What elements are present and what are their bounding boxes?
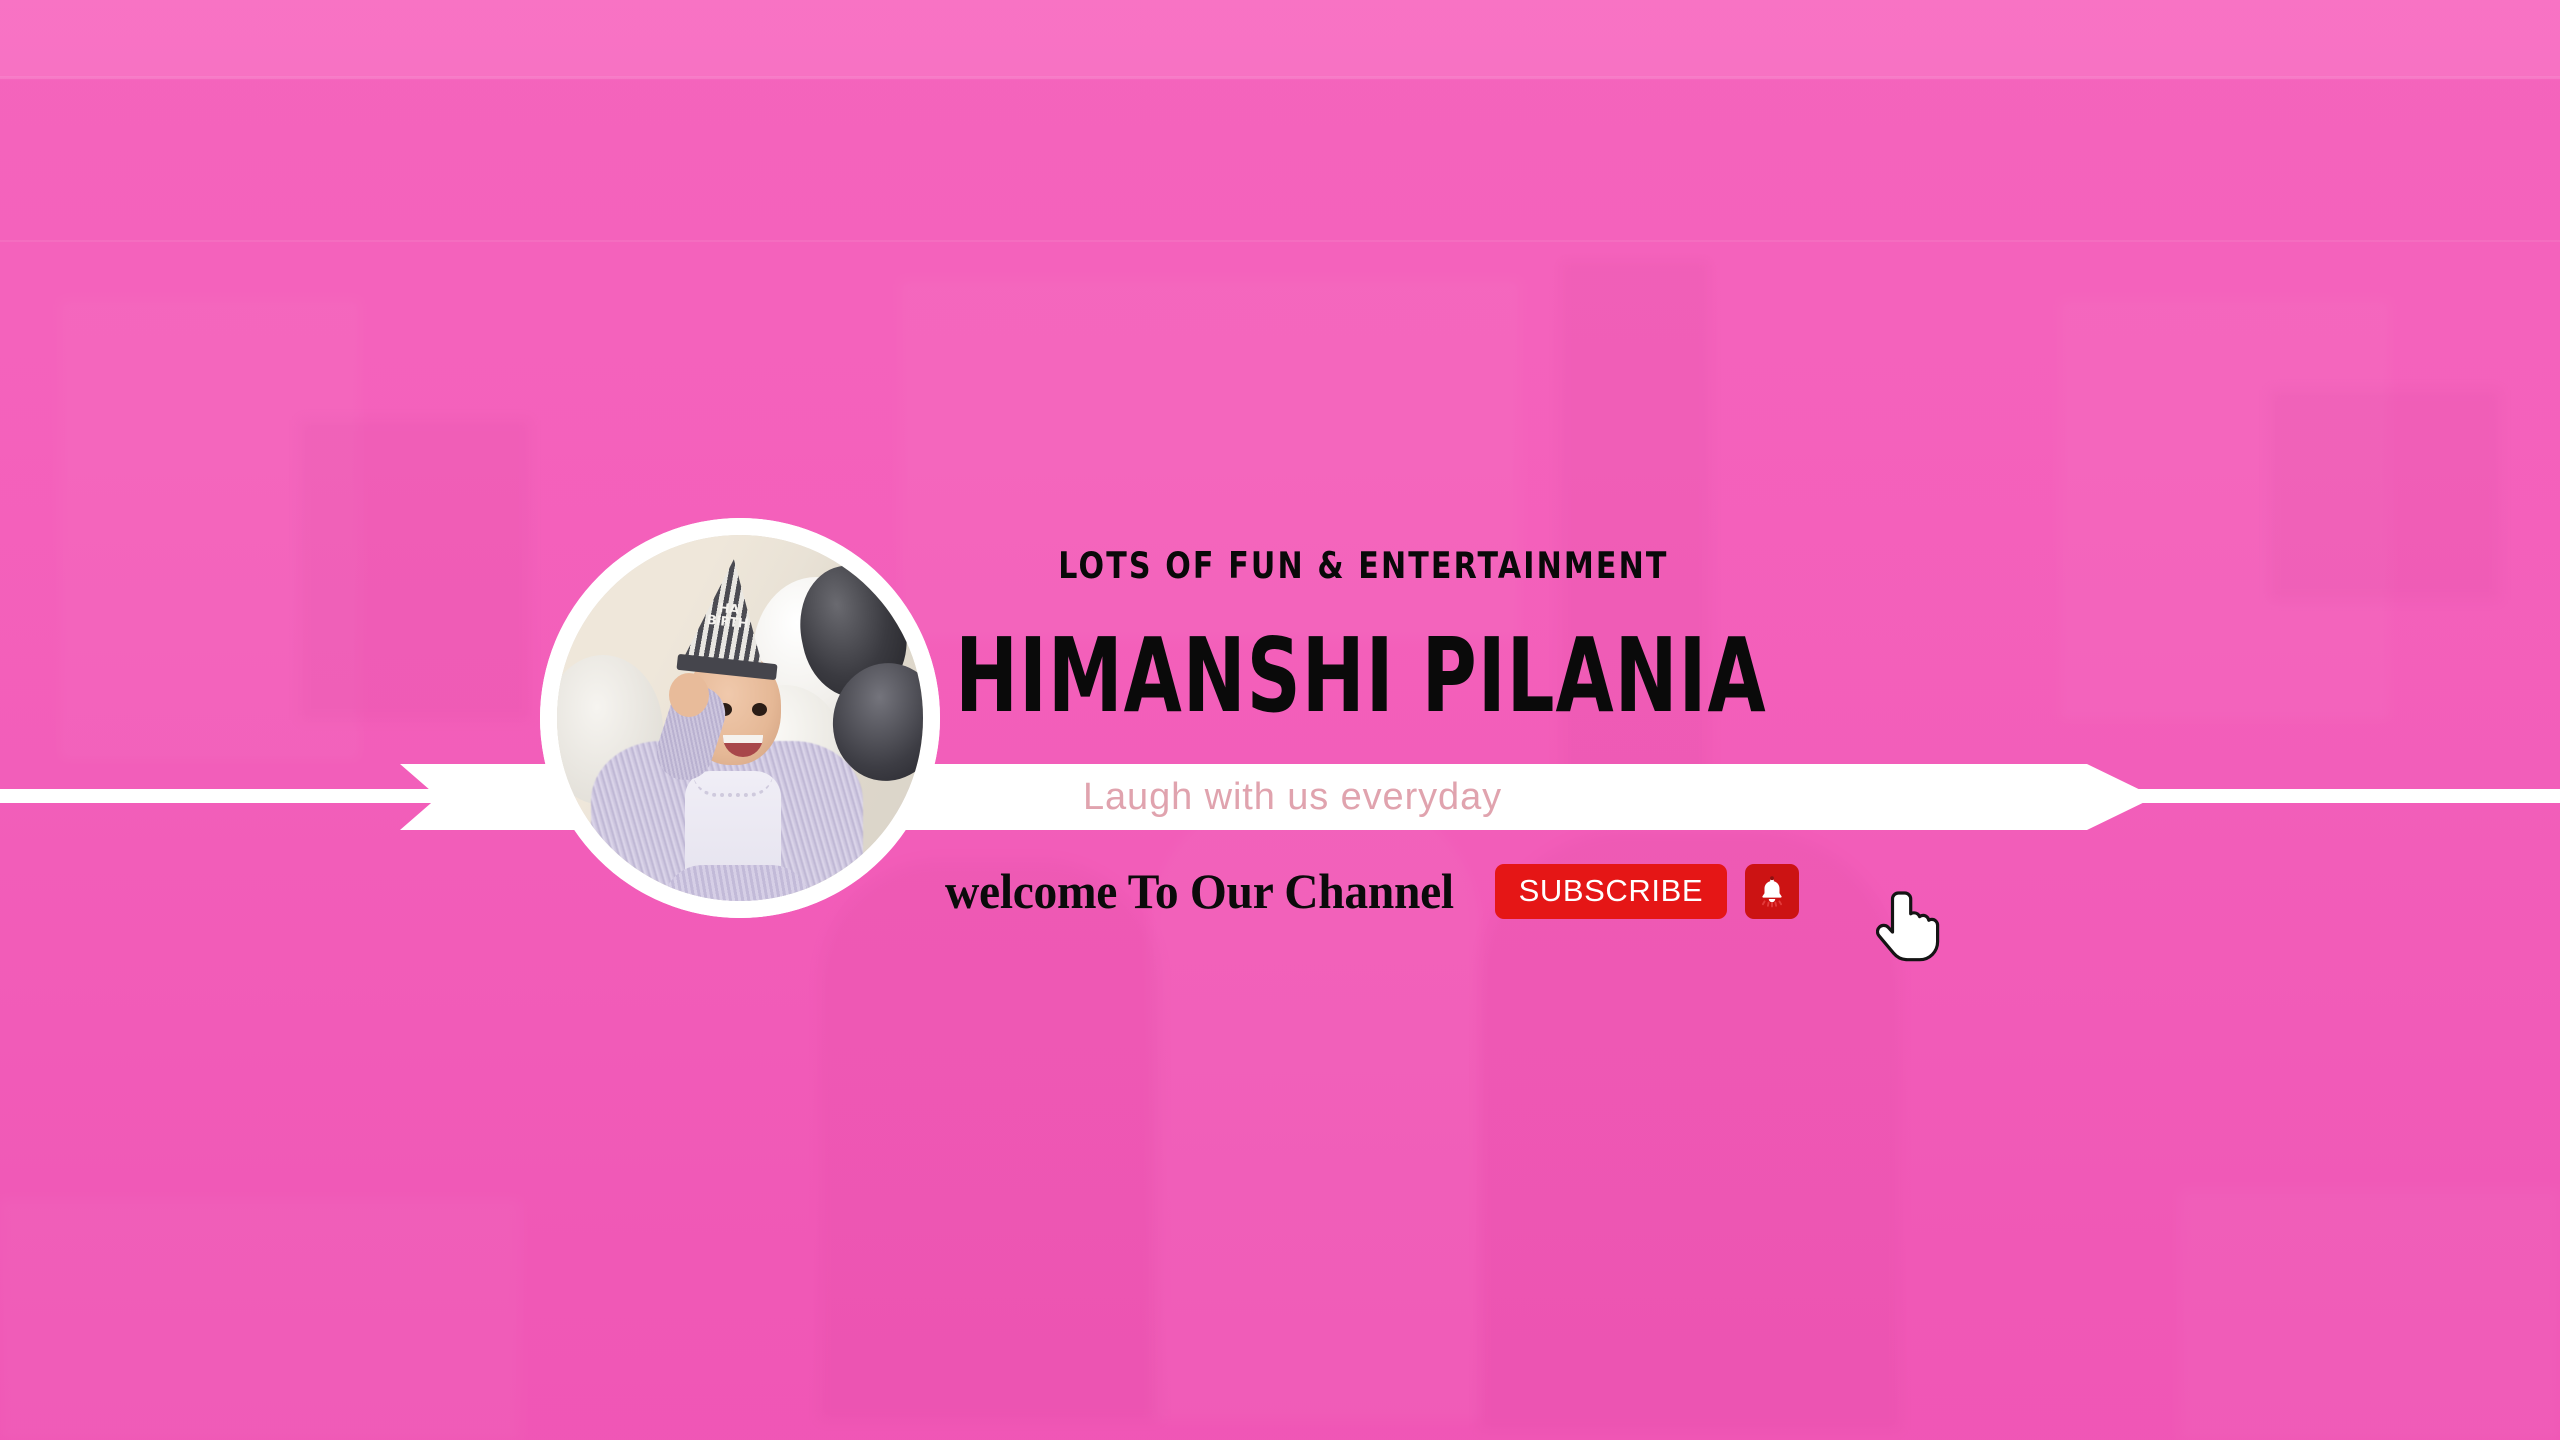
ghost-roof-seam <box>0 76 2560 79</box>
subscribe-button[interactable]: SUBSCRIBE <box>1495 864 1728 919</box>
avatar-necklace <box>693 773 773 797</box>
avatar-party-hat-text: HA BIRTH <box>696 600 760 632</box>
ghost-roof-seam-lower <box>0 240 2560 242</box>
avatar-teeth <box>723 735 763 743</box>
avatar-hand <box>669 673 709 717</box>
notification-bell-button[interactable] <box>1745 864 1799 919</box>
avatar[interactable]: HA BIRTH <box>540 518 940 918</box>
channel-name-title: HIMANSHI PILANIA <box>77 625 2483 727</box>
welcome-text: welcome To Our Channel <box>945 866 1454 916</box>
channel-kicker: LOTS OF FUN & ENTERTAINMENT <box>38 545 2521 587</box>
youtube-channel-banner: LOTS OF FUN & ENTERTAINMENT HIMANSHI PIL… <box>0 0 2560 1440</box>
call-to-action-row: welcome To Our Channel SUBSCRIBE <box>945 860 1799 922</box>
channel-tagline: Laugh with us everyday <box>1053 778 1502 816</box>
avatar-skirt <box>663 865 811 901</box>
avatar-photo: HA BIRTH <box>557 535 923 901</box>
avatar-eye-right <box>752 703 767 716</box>
notification-bell-icon <box>1752 871 1792 911</box>
